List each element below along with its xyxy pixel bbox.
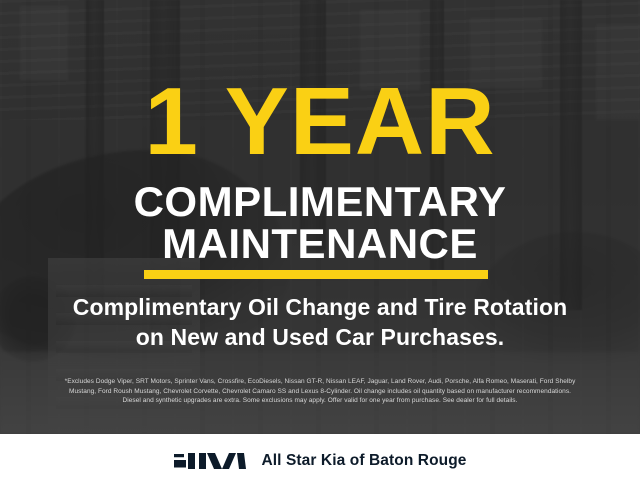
subheading-line-2: on New and Used Car Purchases. bbox=[0, 322, 640, 352]
hero-section: 1 YEAR COMPLIMENTARY MAINTENANCE Complim… bbox=[0, 0, 640, 434]
subheading: Complimentary Oil Change and Tire Rotati… bbox=[0, 292, 640, 352]
footer-bar: All Star Kia of Baton Rouge bbox=[0, 434, 640, 488]
promotional-banner: 1 YEAR COMPLIMENTARY MAINTENANCE Complim… bbox=[0, 0, 640, 488]
subheading-line-1: Complimentary Oil Change and Tire Rotati… bbox=[0, 292, 640, 322]
kia-logo bbox=[173, 450, 247, 472]
headline-line-3-maintenance: MAINTENANCE bbox=[0, 223, 640, 265]
disclaimer-line-2: Mustang, Ford Roush Mustang, Chevrolet C… bbox=[10, 387, 630, 397]
disclaimer-line-3: Diesel and synthetic upgrades are extra.… bbox=[10, 396, 630, 406]
headline-line-2-complimentary: COMPLIMENTARY bbox=[0, 181, 640, 223]
yellow-divider-bar bbox=[144, 270, 488, 279]
headline-line-1-year: 1 YEAR bbox=[0, 74, 640, 170]
dealer-name: All Star Kia of Baton Rouge bbox=[261, 452, 466, 470]
disclaimer-fine-print: *Excludes Dodge Viper, SRT Motors, Sprin… bbox=[10, 377, 630, 406]
disclaimer-line-1: *Excludes Dodge Viper, SRT Motors, Sprin… bbox=[10, 377, 630, 387]
